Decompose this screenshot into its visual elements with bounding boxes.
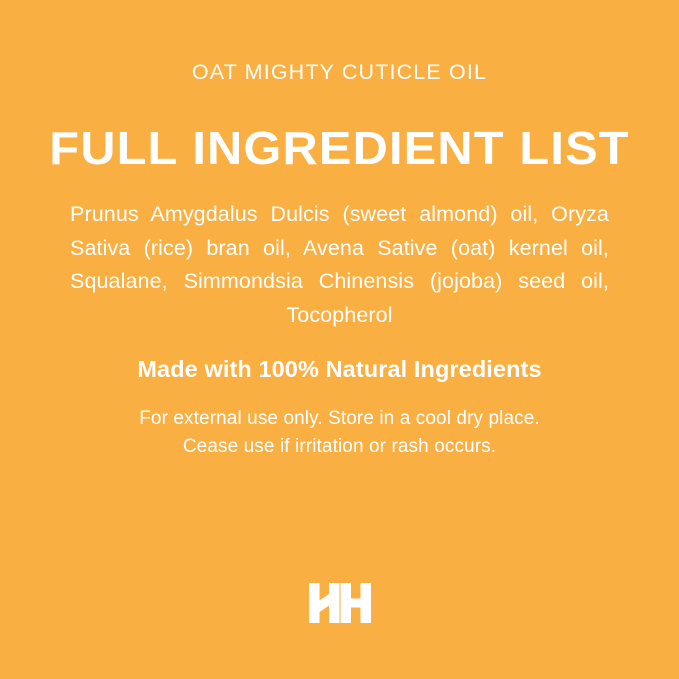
hh-monogram-icon	[309, 583, 371, 623]
usage-notes: For external use only. Store in a cool d…	[0, 405, 679, 460]
natural-ingredients-claim: Made with 100% Natural Ingredients	[0, 355, 679, 383]
brand-logo	[0, 583, 679, 623]
product-name: OAT MIGHTY CUTICLE OIL	[0, 60, 679, 85]
ingredients-paragraph: Prunus Amygdalus Dulcis (sweet almond) o…	[70, 198, 609, 332]
usage-note-line: For external use only. Store in a cool d…	[0, 405, 679, 433]
page-title: FULL INGREDIENT LIST	[0, 124, 679, 174]
ingredient-label-card: OAT MIGHTY CUTICLE OIL FULL INGREDIENT L…	[0, 0, 679, 679]
usage-note-line: Cease use if irritation or rash occurs.	[0, 433, 679, 461]
